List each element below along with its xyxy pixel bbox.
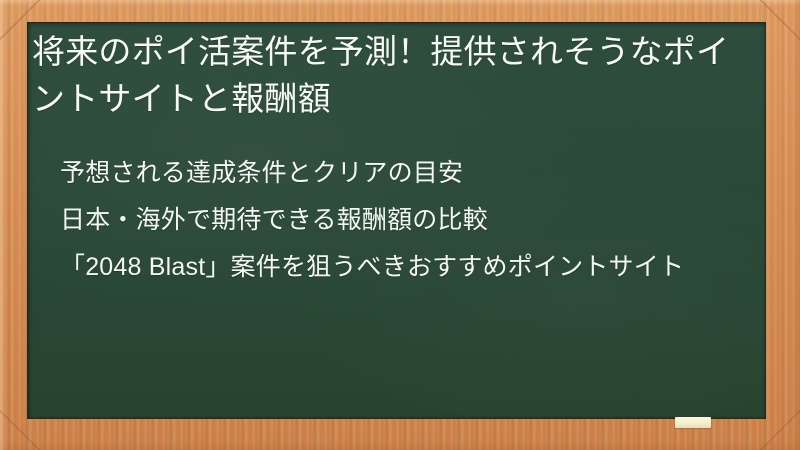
list-item: 日本・海外で期待できる報酬額の比較 <box>60 197 760 244</box>
frame-corner-bottom-right <box>760 410 800 450</box>
list-item: 予想される達成条件とクリアの目安 <box>60 150 760 197</box>
chalkboard: 将来のポイ活案件を予測！提供されそうなポイントサイトと報酬額 予想される達成条件… <box>27 22 766 419</box>
chalk-stick-icon <box>675 417 711 428</box>
topic-list: 予想される達成条件とクリアの目安 日本・海外で期待できる報酬額の比較 「2048… <box>60 150 760 291</box>
frame-corner-top-right <box>760 0 800 40</box>
list-item: 「2048 Blast」案件を狙うべきおすすめポイントサイト <box>60 244 760 291</box>
thumbnail-canvas: 将来のポイ活案件を予測！提供されそうなポイントサイトと報酬額 予想される達成条件… <box>0 0 800 450</box>
page-title: 将来のポイ活案件を予測！提供されそうなポイントサイトと報酬額 <box>32 28 754 122</box>
